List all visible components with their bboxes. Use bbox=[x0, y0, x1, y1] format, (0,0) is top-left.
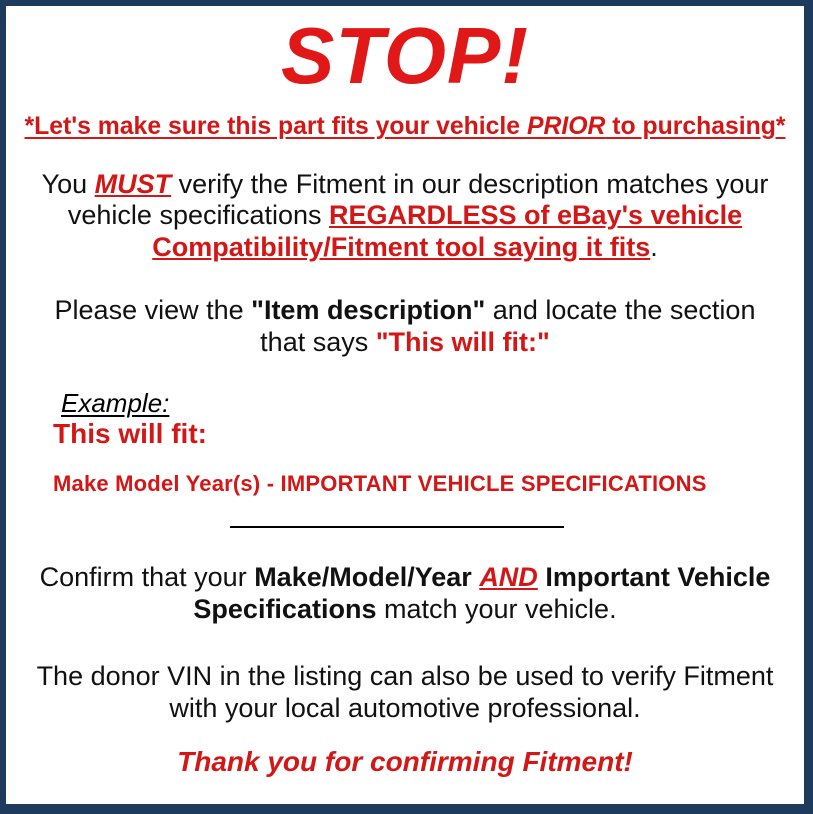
example-this-will-fit: This will fit: bbox=[53, 419, 796, 450]
notice-content: STOP! *Let's make sure this part fits yo… bbox=[6, 6, 804, 804]
thank-you-line: Thank you for confirming Fitment! bbox=[14, 747, 796, 778]
confirm-paragraph: Confirm that your Make/Model/Year AND Im… bbox=[14, 562, 796, 625]
confirm-seg-1: Confirm that your bbox=[40, 562, 255, 592]
example-label: Example: bbox=[53, 389, 169, 418]
subtitle-emphasis-prior: PRIOR bbox=[527, 112, 605, 140]
confirm-seg-2: match your vehicle. bbox=[376, 594, 616, 624]
subtitle-text-before: *Let's make sure this part fits your veh… bbox=[24, 112, 526, 140]
must-paragraph-seg-3: . bbox=[650, 232, 658, 262]
subtitle-banner: *Let's make sure this part fits your veh… bbox=[18, 112, 792, 141]
section-divider bbox=[14, 522, 796, 536]
quote-this-will-fit: "This will fit:" bbox=[376, 327, 550, 357]
must-paragraph-seg-1: You bbox=[42, 169, 95, 199]
example-block: Example: This will fit: Make Model Year(… bbox=[14, 389, 796, 497]
subtitle-text-after: to purchasing* bbox=[605, 112, 785, 140]
item-description-seg-1: Please view the bbox=[55, 295, 252, 325]
example-spec-line: Make Model Year(s) - IMPORTANT VEHICLE S… bbox=[53, 472, 796, 496]
divider-rule bbox=[230, 526, 564, 528]
must-verify-paragraph: You MUST verify the Fitment in our descr… bbox=[14, 169, 796, 264]
emphasis-must: MUST bbox=[95, 169, 172, 199]
page-title: STOP! bbox=[14, 6, 796, 98]
bold-item-description: "Item description" bbox=[251, 295, 485, 325]
bold-make-model-year: Make/Model/Year bbox=[254, 562, 472, 592]
fitment-notice-card: STOP! *Let's make sure this part fits yo… bbox=[0, 0, 813, 814]
emphasis-and: AND bbox=[479, 562, 538, 592]
donor-vin-paragraph: The donor VIN in the listing can also be… bbox=[14, 661, 796, 724]
item-description-paragraph: Please view the "Item description" and l… bbox=[14, 295, 796, 358]
